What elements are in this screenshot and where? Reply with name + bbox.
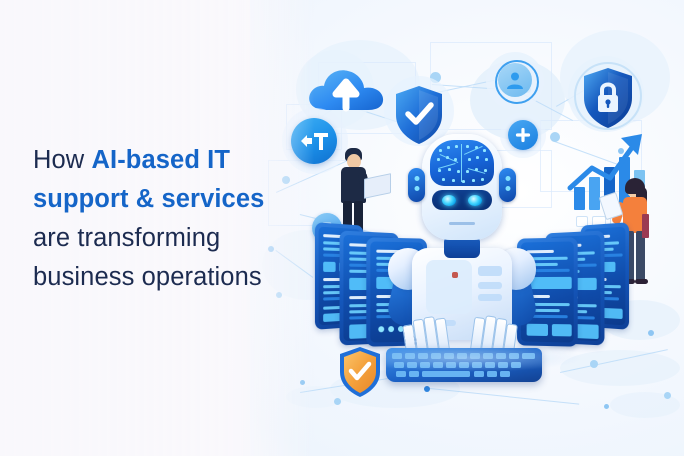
illustration-canvas: How AI-based IT support & services are t… bbox=[0, 0, 684, 456]
page-title: How AI-based IT support & services are t… bbox=[33, 141, 295, 297]
headline-plain-text: How bbox=[33, 146, 92, 174]
headline-line-4: business operations bbox=[33, 258, 295, 297]
headline-line-2: support & services bbox=[33, 180, 295, 219]
headline-line-3: are transforming bbox=[33, 219, 295, 258]
headline-line-1: How AI-based IT bbox=[33, 141, 295, 180]
headline-highlight-1: AI-based IT bbox=[92, 146, 231, 174]
